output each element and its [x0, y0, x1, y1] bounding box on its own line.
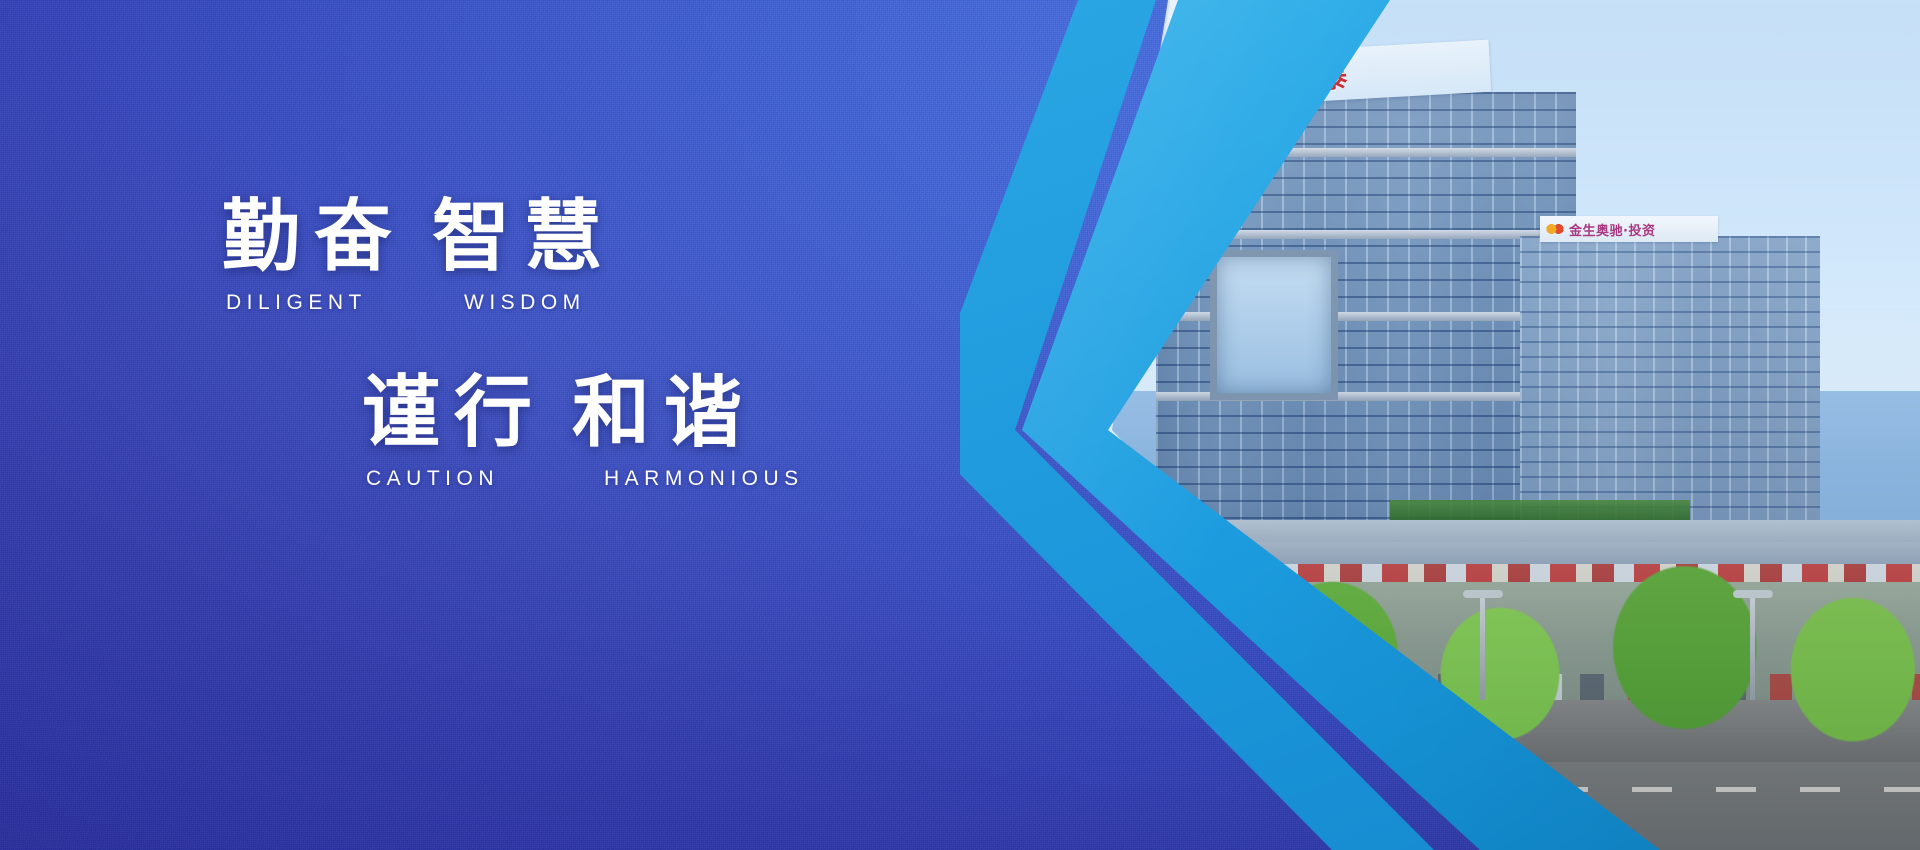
- podium-awning: [1390, 500, 1690, 522]
- slogan-line-2-chinese-left: 谨行: [362, 368, 546, 458]
- photo-canvas: 江苏国泰 金生奥驰·投资: [960, 0, 1920, 850]
- building-sign-secondary-text: 金生奥驰·投资: [1569, 220, 1655, 239]
- slogan-line-2-english-left: CAUTION: [366, 467, 604, 491]
- slogan-line-2: 谨行和谐 CAUTION HARMONIOUS: [362, 372, 804, 491]
- slogan-line-1-english: DILIGENT WISDOM: [222, 279, 616, 315]
- secondary-sign-panel: 金生奥驰·投资: [1540, 216, 1718, 242]
- tower-floor-band: [1156, 148, 1576, 157]
- slogan-line-1-chinese-right: 智慧: [432, 192, 616, 282]
- slogan-block: 勤奋智慧 DILIGENT WISDOM 谨行和谐 CAUTION HARMON…: [0, 0, 960, 850]
- sign-logo-icon: [1546, 221, 1564, 237]
- tree-shading: [1080, 542, 1920, 762]
- street-lamp: [1750, 596, 1755, 700]
- building-sign-primary-text: 江苏国泰: [1211, 55, 1357, 102]
- building-photo: 江苏国泰 金生奥驰·投资: [960, 0, 1920, 850]
- secondary-office-building: [1520, 236, 1820, 536]
- slogan-line-1-english-right: WISDOM: [464, 291, 586, 315]
- road-lane-marking: [960, 787, 1920, 792]
- corporate-culture-banner: 江苏国泰 金生奥驰·投资: [0, 0, 1920, 850]
- slogan-line-2-chinese: 谨行和谐: [362, 372, 804, 455]
- secondary-glass-facade: [1520, 236, 1820, 536]
- tower-floor-band: [1156, 230, 1576, 239]
- slogan-line-1-chinese-left: 勤奋: [222, 192, 406, 282]
- street-level-ground: [960, 582, 1920, 850]
- street-lamp: [1230, 596, 1235, 700]
- slogan-line-2-english: CAUTION HARMONIOUS: [362, 455, 804, 491]
- slogan-line-1: 勤奋智慧 DILIGENT WISDOM: [222, 196, 616, 315]
- slogan-line-1-chinese: 勤奋智慧: [222, 196, 616, 279]
- slogan-line-1-english-left: DILIGENT: [226, 291, 464, 315]
- tower-portal-opening: [1210, 250, 1338, 400]
- slogan-line-2-english-right: HARMONIOUS: [604, 467, 804, 491]
- banner-artwork: 江苏国泰 金生奥驰·投资: [960, 0, 1920, 850]
- slogan-line-2-chinese-right: 和谐: [572, 368, 756, 458]
- street-lamp: [1480, 596, 1485, 700]
